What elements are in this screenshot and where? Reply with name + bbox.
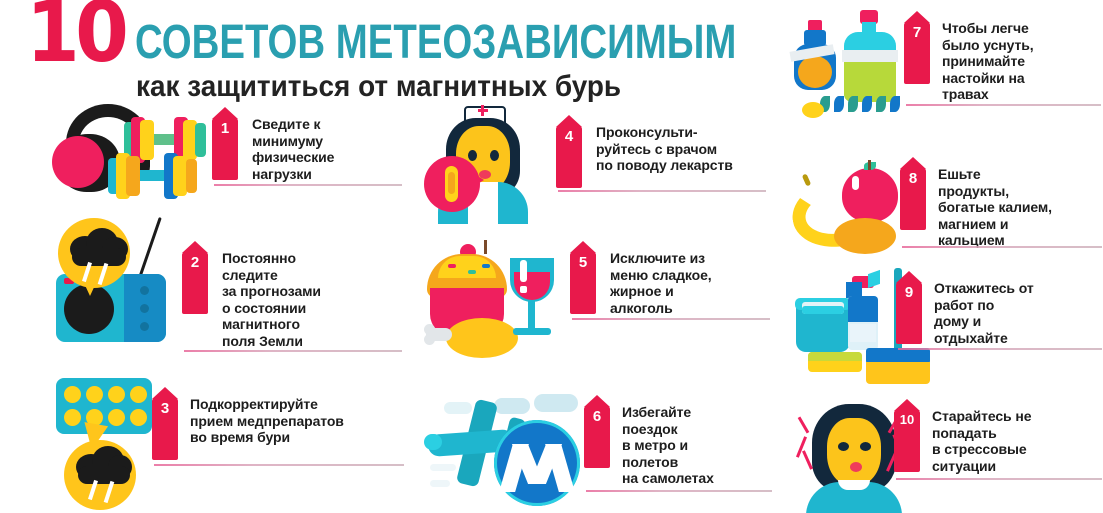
tip-card-6[interactable]: 6 Избегайте поездок в метро и полетов на…: [424, 392, 764, 513]
tip-underline-4: [558, 190, 766, 192]
tip-text-2: Постоянно следите за прогнозами о состоя…: [222, 250, 397, 349]
page-header: 10 СОВЕТОВ МЕТЕОЗАВИСИМЫМ как защититься…: [26, 6, 766, 106]
tip-number-badge-8: 8: [900, 168, 926, 230]
tip-number-badge-6: 6: [584, 406, 610, 468]
tip-card-1[interactable]: 1 Сведите к минимуму физические нагрузки: [52, 104, 402, 204]
tip-text-6: Избегайте поездок в метро и полетов на с…: [622, 404, 772, 487]
tip-number-badge-2: 2: [182, 252, 208, 314]
tip-card-10[interactable]: 10 Старайтесь не попадать в стрессовые с…: [786, 394, 1103, 513]
nurse-doctor-icon: [424, 104, 554, 210]
page-subtitle: как защититься от магнитных бурь: [136, 70, 722, 104]
headline-number: 10: [26, 0, 124, 68]
header-title-row: 10 СОВЕТОВ МЕТЕОЗАВИСИМЫМ: [26, 6, 766, 68]
tip-underline-9: [898, 348, 1102, 350]
tip-underline-2: [184, 350, 402, 352]
tip-card-4[interactable]: 4 Проконсульти- руйтесь с врачом по пово…: [424, 104, 764, 210]
tip-underline-7: [906, 104, 1101, 106]
tip-number-badge-5: 5: [570, 252, 596, 314]
tip-number-badge-9: 9: [896, 282, 922, 344]
tip-number-badge-1: 1: [212, 118, 238, 180]
tip-card-7[interactable]: 7 Чтобы легче было уснуть, принимайте на…: [786, 4, 1103, 118]
tip-card-2[interactable]: 2 Постоянно следите за прогнозами о сост…: [52, 222, 402, 360]
tip-text-1: Сведите к минимуму физические нагрузки: [252, 116, 402, 182]
cupcake-wine-chicken-icon: [424, 240, 574, 365]
tip-text-8: Ешьте продукты, богатые калием, магнием …: [938, 166, 1103, 249]
tip-underline-1: [214, 184, 402, 186]
tip-number-badge-3: 3: [152, 398, 178, 460]
tip-card-8[interactable]: 8 Ешьте продукты, богатые калием, магние…: [786, 158, 1103, 262]
tip-text-3: Подкорректируйте прием медпрепаратов во …: [190, 396, 405, 446]
tip-number-badge-10: 10: [894, 410, 920, 472]
infographic-page: 10 СОВЕТОВ МЕТЕОЗАВИСИМЫМ как защититься…: [0, 0, 1103, 513]
tip-card-5[interactable]: 5 Исключите из меню сладкое, жирное и ал…: [424, 240, 764, 365]
radio-storm-forecast-icon: [52, 222, 182, 360]
tip-text-9: Откажитесь от работ по дому и отдыхайте: [934, 280, 1102, 346]
tip-underline-8: [902, 246, 1102, 248]
kettlebell-dumbbells-icon: [52, 104, 212, 204]
tip-underline-6: [586, 490, 772, 492]
tip-number-badge-7: 7: [904, 22, 930, 84]
tip-text-5: Исключите из меню сладкое, жирное и алко…: [610, 250, 770, 316]
tip-card-3[interactable]: 3 Подкорректируйте прием медпрепаратов в…: [52, 378, 402, 510]
tip-text-4: Проконсульти- руйтесь с врачом по поводу…: [596, 124, 766, 174]
tip-underline-3: [154, 464, 404, 466]
tip-underline-5: [572, 318, 770, 320]
airplane-metro-icon: [424, 392, 594, 513]
tip-card-9[interactable]: 9 Откажитесь от работ по дому и отдыхайт…: [786, 268, 1103, 386]
page-title: СОВЕТОВ МЕТЕОЗАВИСИМЫМ: [135, 18, 736, 68]
banana-apple-potato-icon: [786, 158, 916, 262]
tip-text-7: Чтобы легче было уснуть, принимайте наст…: [942, 20, 1100, 103]
tip-underline-10: [896, 478, 1102, 480]
tip-text-10: Старайтесь не попадать в стрессовые ситу…: [932, 408, 1102, 474]
tip-number-badge-4: 4: [556, 126, 582, 188]
